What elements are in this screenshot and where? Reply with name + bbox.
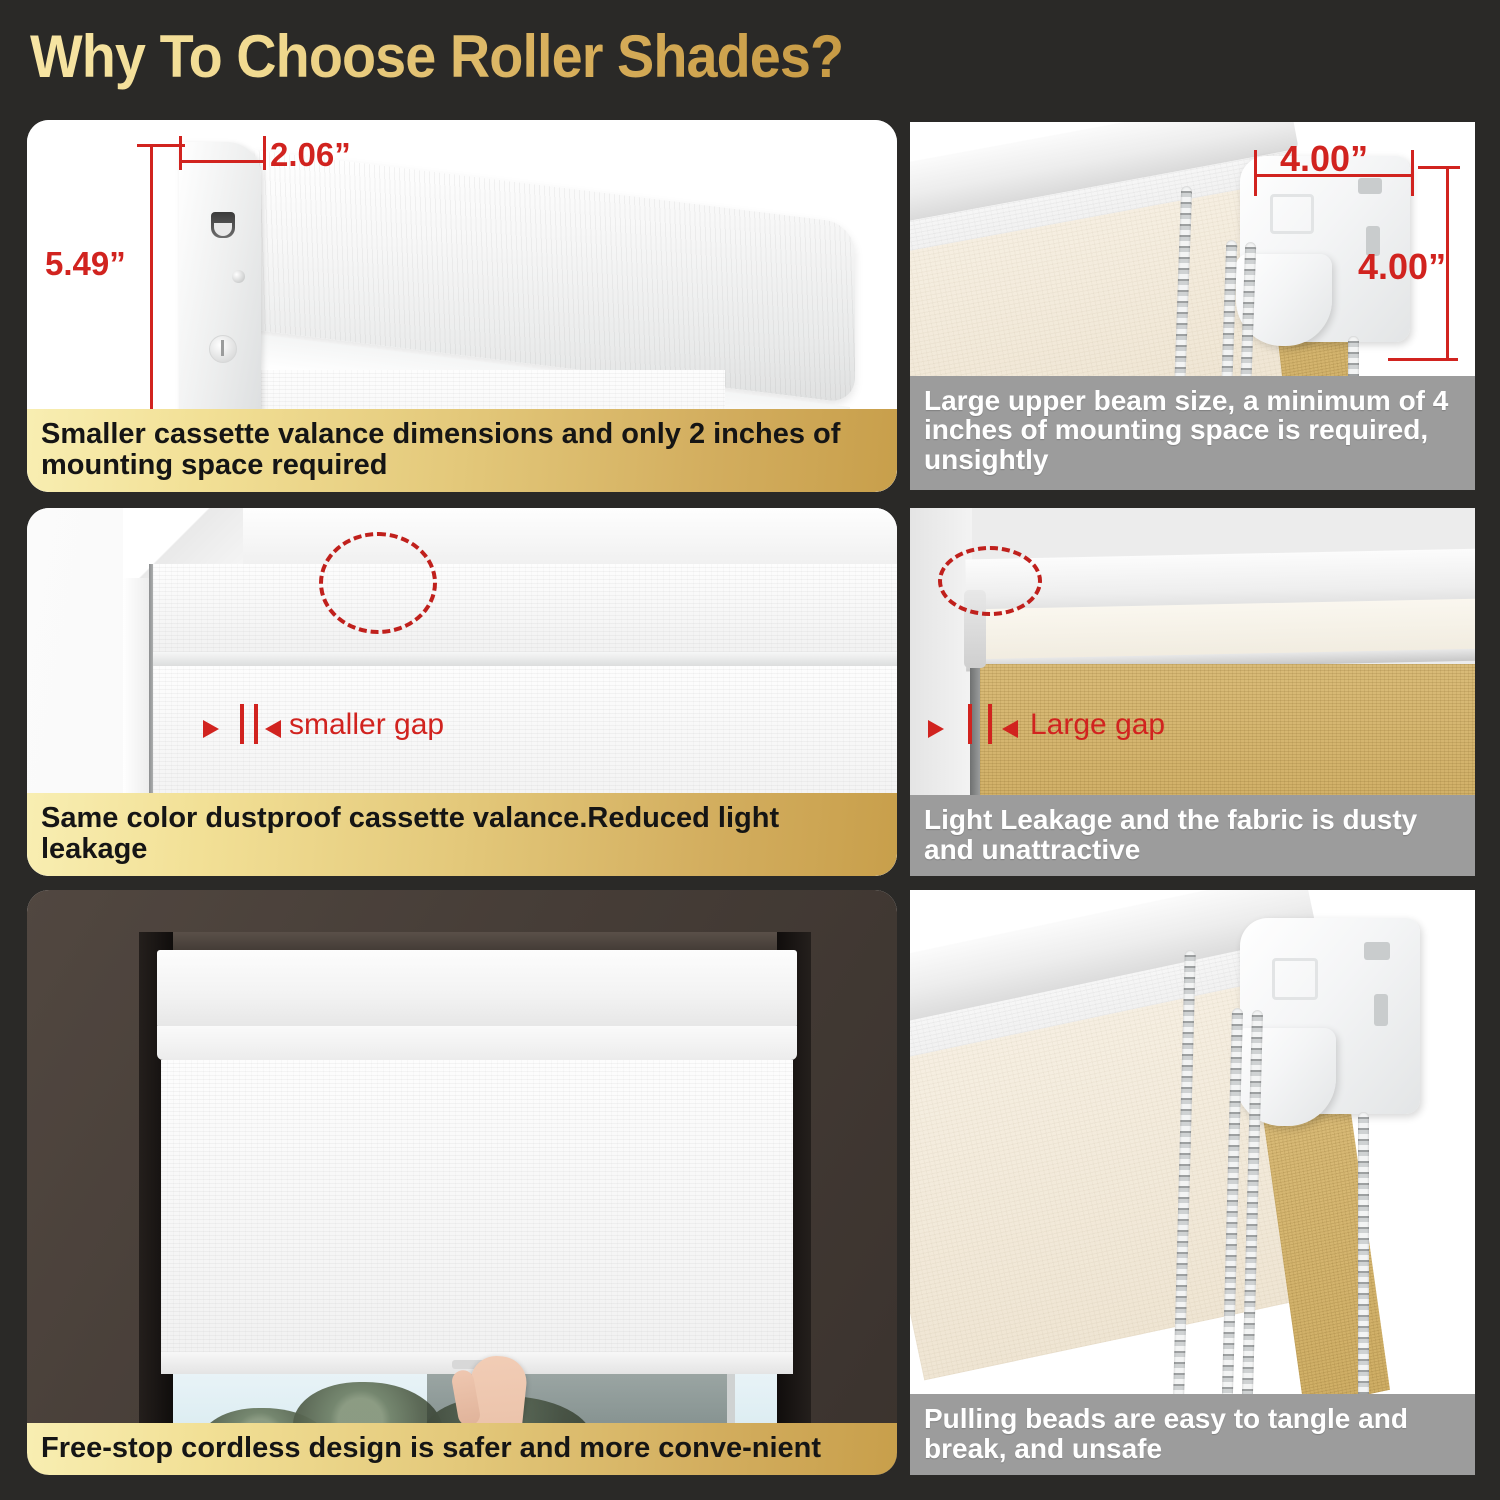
width-dimension-tick-left <box>179 136 182 170</box>
panel-3-caption-text: Same color dustproof cassette valance.Re… <box>41 803 883 864</box>
height-dimension-label: 5.49” <box>45 245 126 283</box>
beam-height-label: 4.00” <box>1358 246 1446 288</box>
infographic-page: Why To Choose Roller Shades? 2.06” <box>0 0 1500 1500</box>
panel-large-beam[interactable]: 4.00” 4.00” Large upper beam size, a min… <box>910 122 1475 490</box>
cassette-valance <box>153 564 897 656</box>
panel-5-caption-text: Free-stop cordless design is safer and m… <box>41 1433 883 1463</box>
panel-4-caption: Light Leakage and the fabric is dusty an… <box>910 795 1475 876</box>
panel-1-caption: Smaller cassette valance dimensions and … <box>27 409 897 492</box>
panel-6-caption-text: Pulling beads are easy to tangle and bre… <box>924 1404 1461 1463</box>
panel-6-artwork <box>910 890 1475 1475</box>
comparison-grid: 2.06” 5.49” Smaller cassette valance dim… <box>0 0 1500 1500</box>
gap-arrow-left-icon <box>928 720 944 738</box>
height-dimension-line <box>150 144 153 424</box>
width-dimension-label: 2.06” <box>270 136 351 174</box>
panel-4-caption-text: Light Leakage and the fabric is dusty an… <box>924 805 1461 864</box>
end-cap-slot <box>211 212 235 238</box>
gap-arrow-right-icon <box>265 720 281 738</box>
cassette-lip <box>157 1026 797 1060</box>
width-dimension-line <box>179 160 265 163</box>
end-cap-screw <box>232 270 245 283</box>
highlight-circle-icon <box>938 546 1042 616</box>
gap-tick-a <box>240 704 244 744</box>
valance-rail <box>153 652 897 666</box>
beam-width-tick-left <box>1254 150 1257 196</box>
highlight-circle-icon <box>319 532 437 634</box>
cassette-valance <box>157 950 797 1028</box>
valance-end-cap <box>179 142 261 420</box>
gap-label: smaller gap <box>289 708 444 742</box>
panel-pulling-beads[interactable]: Pulling beads are easy to tangle and bre… <box>910 890 1475 1475</box>
gap-arrow-left-icon <box>203 720 219 738</box>
gap-label: Large gap <box>1030 708 1165 742</box>
panel-dustproof-cassette[interactable]: smaller gap Same color dustproof cassett… <box>27 508 897 876</box>
panel-5-artwork <box>27 890 897 1475</box>
panel-3-caption: Same color dustproof cassette valance.Re… <box>27 793 897 876</box>
panel-2-caption-text: Large upper beam size, a minimum of 4 in… <box>924 386 1461 474</box>
gap-tick-b <box>254 704 258 744</box>
panel-cordless-design[interactable]: Free-stop cordless design is safer and m… <box>27 890 897 1475</box>
shade-fabric <box>161 1060 793 1360</box>
beam-width-label: 4.00” <box>1280 138 1368 180</box>
panel-light-leakage[interactable]: Large gap Light Leakage and the fabric i… <box>910 508 1475 876</box>
panel-smaller-cassette[interactable]: 2.06” 5.49” Smaller cassette valance dim… <box>27 120 897 492</box>
gap-tick-b <box>988 704 992 744</box>
panel-1-caption-text: Smaller cassette valance dimensions and … <box>41 419 883 480</box>
panel-5-caption: Free-stop cordless design is safer and m… <box>27 1423 897 1475</box>
gap-arrow-right-icon <box>1002 720 1018 738</box>
beam-height-tick-bottom <box>1388 358 1458 361</box>
panel-2-caption: Large upper beam size, a minimum of 4 in… <box>910 376 1475 490</box>
beam-height-dimension-line <box>1446 166 1449 360</box>
width-dimension-tick-right <box>263 136 266 170</box>
beam-height-tick-top <box>1418 166 1460 169</box>
end-cap-pin <box>209 335 237 363</box>
height-dimension-tick-top <box>137 144 185 147</box>
gap-tick-a <box>968 704 972 744</box>
panel-6-caption: Pulling beads are easy to tangle and bre… <box>910 1394 1475 1475</box>
beam-width-tick-right <box>1411 150 1414 196</box>
